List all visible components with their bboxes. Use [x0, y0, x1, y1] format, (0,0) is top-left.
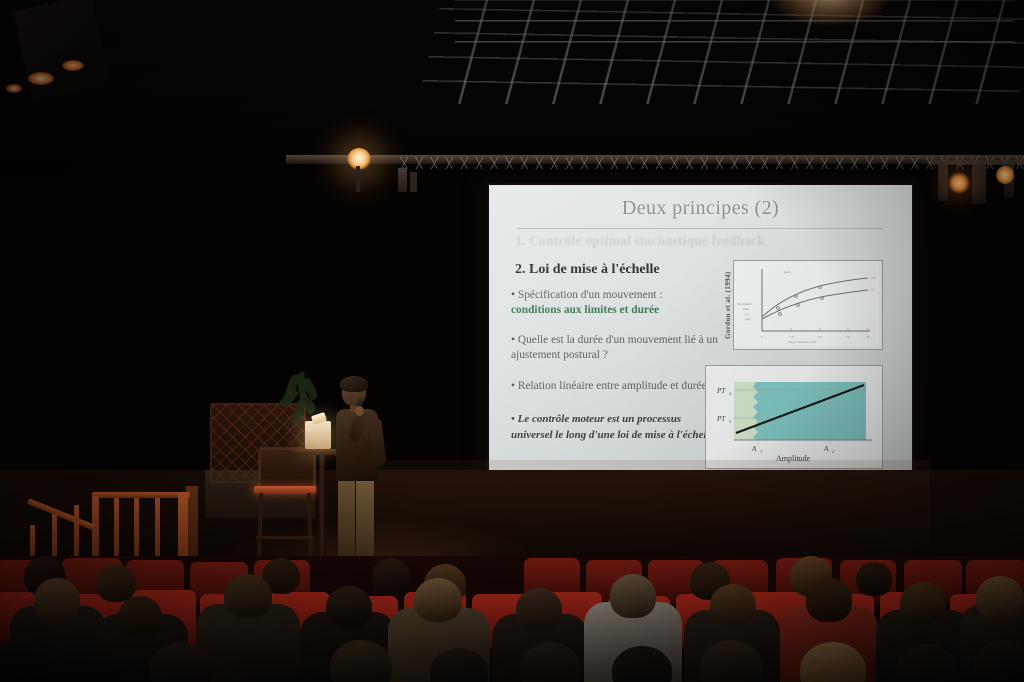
bullet-text: Quelle est la durée d'un mouvement lié à…: [511, 334, 718, 361]
bullet-marker: •: [511, 289, 515, 301]
bullet-marker: •: [511, 413, 515, 425]
spotlight-fixture: [410, 172, 417, 192]
svg-text:(s): (s): [745, 312, 749, 316]
figure-duration-plot: PT2 PT1 A1 A2 Amplitude: [706, 366, 879, 465]
svg-text:(ms): (ms): [745, 317, 751, 321]
spotlight-stem: [356, 166, 360, 192]
faded-previous-line: 1. Contrôle optimal stochastique feedbac…: [515, 233, 855, 249]
svg-text:10: 10: [790, 335, 794, 339]
svg-text:0: 0: [761, 335, 763, 339]
title-divider: [517, 228, 883, 229]
audience-head: [118, 596, 162, 638]
bullet-marker: •: [511, 334, 515, 346]
svg-text:10°: 10°: [871, 276, 876, 280]
slide-bullet-list: • Spécification d'un mouvement : conditi…: [511, 288, 721, 455]
svg-text:PT: PT: [716, 387, 726, 395]
svg-text:1: 1: [760, 449, 762, 454]
svg-text:A: A: [823, 445, 829, 453]
figure-gordon-plot: peak 10° 5° Movement time (s) (ms) 0 10 …: [734, 261, 879, 346]
bullet-marker: •: [511, 380, 515, 392]
bullet-text: Le contrôle moteur est un processus univ…: [511, 413, 714, 440]
svg-text:30: 30: [846, 335, 850, 339]
bullet-item-2: • Quelle est la durée d'un mouvement lié…: [511, 333, 721, 364]
svg-text:A: A: [751, 445, 757, 453]
audience-head: [610, 574, 656, 618]
audience-head: [372, 558, 410, 594]
audience-head: [224, 574, 272, 618]
projection-screen: Deux principes (2) 1. Contrôle optimal s…: [489, 185, 912, 487]
right-light-fixture: [972, 164, 986, 204]
svg-text:20: 20: [818, 335, 822, 339]
speaker-hair: [340, 376, 368, 392]
bullet-item-1: • Spécification d'un mouvement : conditi…: [511, 288, 721, 319]
bullet-highlight: conditions aux limites et durée: [511, 304, 659, 316]
rig-lamp-icon: [28, 72, 54, 85]
audience-head: [710, 584, 756, 626]
svg-text:time: time: [743, 307, 750, 311]
svg-text:PT: PT: [716, 415, 726, 423]
audience-head: [326, 586, 372, 628]
audience-head: [96, 564, 136, 602]
svg-text:peak: peak: [784, 270, 791, 274]
amber-lamp-icon: [948, 172, 970, 194]
bullet-text: Relation linéaire entre amplitude et dur…: [518, 380, 707, 392]
right-light-fixture: [938, 165, 948, 201]
svg-text:Movement: Movement: [737, 302, 752, 306]
speaker-hand: [355, 406, 364, 416]
slide-title: Deux principes (2): [489, 197, 912, 220]
auditorium-scene: Deux principes (2) 1. Contrôle optimal s…: [0, 0, 1024, 682]
bullet-item-4: • Le contrôle moteur est un processus un…: [511, 412, 721, 442]
audience-head: [976, 576, 1024, 620]
amber-lamp-small-icon: [996, 166, 1014, 184]
audience-head: [856, 562, 892, 596]
figure-gordon: peak 10° 5° Movement time (s) (ms) 0 10 …: [733, 260, 883, 350]
svg-text:40: 40: [866, 335, 870, 339]
rig-lamp-icon: [6, 84, 22, 93]
audience-head: [516, 588, 562, 630]
bar-stool-rung: [256, 536, 314, 539]
audience-head: [414, 578, 462, 622]
spotlight-fixture: [398, 168, 407, 192]
audience-area: [0, 556, 1024, 682]
audience-head: [34, 578, 80, 622]
table-lamp-icon: [305, 421, 331, 449]
audience-head: [900, 582, 946, 624]
figure-duration-amplitude: PT2 PT1 A1 A2 Amplitude: [705, 365, 883, 469]
rig-lamp-icon: [62, 60, 84, 71]
bullet-text: Spécification d'un mouvement :: [518, 289, 663, 301]
bullet-item-3: • Relation linéaire entre amplitude et d…: [511, 379, 721, 394]
slide-section-heading: 2. Loi de mise à l'échelle: [515, 262, 660, 278]
ceiling-grid-secondary: [455, 0, 1015, 62]
audience-head: [806, 578, 852, 622]
svg-text:1: 1: [729, 419, 731, 424]
svg-text:Target distance (cm): Target distance (cm): [788, 340, 816, 344]
